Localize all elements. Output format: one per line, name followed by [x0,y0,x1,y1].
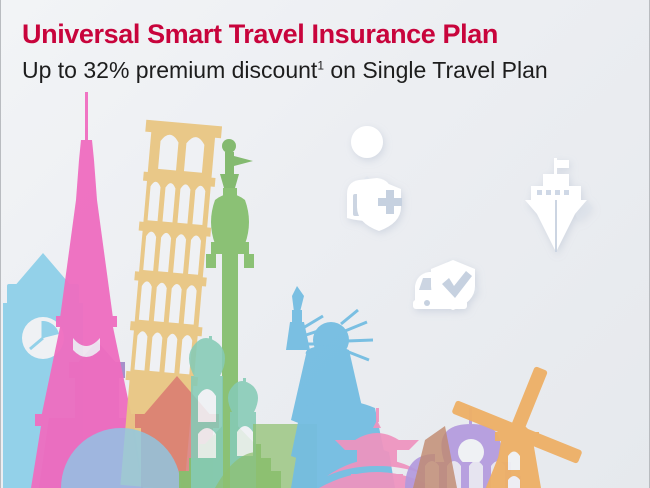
subheadline-text-after: on Single Travel Plan [324,57,548,83]
promo-text-block: Universal Smart Travel Insurance Plan Up… [22,19,548,83]
promo-subheadline: Up to 32% premium discount1 on Single Tr… [22,57,548,83]
world-landmarks-skyline [1,88,650,488]
page-title: Universal Smart Travel Insurance Plan [22,19,548,50]
footnote-marker: 1 [317,58,324,72]
subheadline-text-before: Up to 32% premium discount [22,57,317,83]
travel-insurance-promo-banner: Universal Smart Travel Insurance Plan Up… [0,0,650,488]
landmark-windmill [413,343,606,488]
